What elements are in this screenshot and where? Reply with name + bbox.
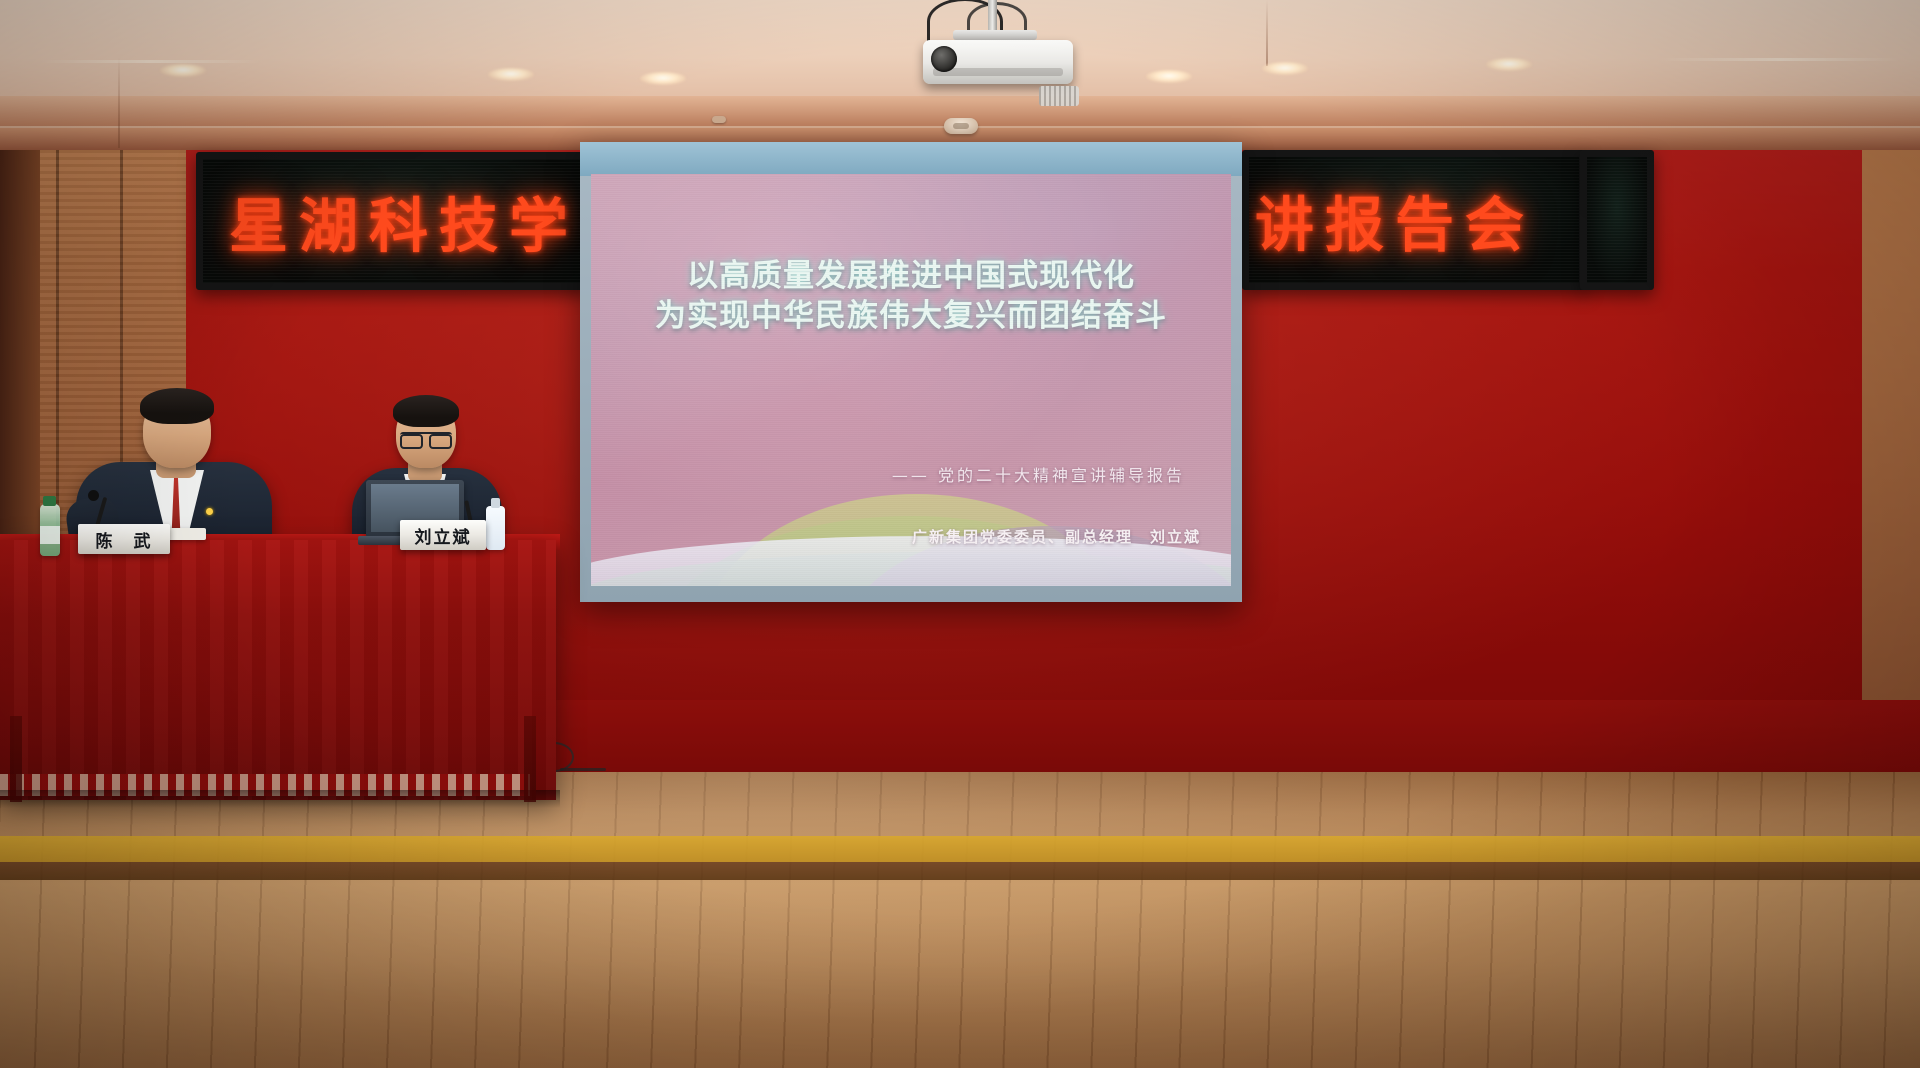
hand-sanitizer-bottle[interactable]: [486, 506, 505, 550]
ceiling-seam: [40, 60, 260, 63]
person-left-lapel-pin-icon: [206, 508, 213, 515]
floor-light-sheen: [0, 772, 1920, 1068]
ceiling-downlight: [1146, 70, 1192, 83]
ceiling-seam: [1660, 58, 1900, 61]
ceiling-downlight: [488, 68, 534, 81]
led-banner-right: 讲报告会: [1242, 150, 1586, 290]
presentation-slide: 以高质量发展推进中国式现代化 为实现中华民族伟大复兴而团结奋斗 —— 党的二十大…: [591, 174, 1231, 586]
conference-hall-photo: 星湖科技学 讲报告会 以高质量发展推进中国式现代化 为实现中华民族伟大复兴而团结…: [0, 0, 1920, 1068]
projector-mount-plate: [953, 30, 1037, 40]
bottle-cap[interactable]: [43, 496, 56, 506]
cable-run: [560, 768, 606, 771]
nameplate-left: 陈 武: [78, 524, 170, 554]
ceiling-groove: [118, 56, 120, 148]
led-banner-far-right: [1580, 150, 1654, 290]
ceiling-downlight: [1486, 58, 1532, 71]
led-banner-left-text: 星湖科技学: [203, 179, 583, 264]
ceiling-downlight: [640, 72, 686, 85]
microphone-head-icon[interactable]: [88, 490, 99, 501]
led-banner-left: 星湖科技学: [196, 152, 590, 290]
sprinkler-head-icon: [712, 116, 726, 123]
ceiling-groove: [1266, 0, 1268, 66]
led-panel-surface: [1587, 157, 1647, 283]
slide-projection-noise: [591, 174, 1231, 586]
table-shadow: [0, 790, 560, 808]
head-table: [0, 540, 556, 800]
sanitizer-pump-icon[interactable]: [491, 498, 500, 508]
led-banner-right-text: 讲报告会: [1249, 178, 1579, 263]
nameplate-right: 刘立斌: [400, 520, 486, 550]
person-right-hair: [393, 395, 459, 427]
projection-screen: 以高质量发展推进中国式现代化 为实现中华民族伟大复兴而团结奋斗 —— 党的二十大…: [580, 142, 1242, 602]
ceiling-downlight: [160, 64, 206, 77]
floor-strip-yellow: [0, 836, 1920, 862]
projector-vent-icon: [1039, 86, 1079, 106]
person-left-hair: [140, 388, 214, 424]
water-bottle[interactable]: [40, 504, 60, 556]
bottle-label: [40, 526, 60, 544]
side-wall-wood-right: [1862, 150, 1920, 710]
projector-lens-icon: [931, 46, 957, 72]
table-leg: [10, 716, 22, 802]
person-right-glasses-icon: [400, 432, 452, 445]
smoke-detector-icon: [944, 118, 978, 134]
table-leg: [524, 716, 536, 802]
ceiling-downlight: [1262, 62, 1308, 75]
floor-strip-dark: [0, 862, 1920, 880]
screen-top-bar: [580, 142, 1242, 176]
ceiling-projector: [905, 0, 1105, 110]
